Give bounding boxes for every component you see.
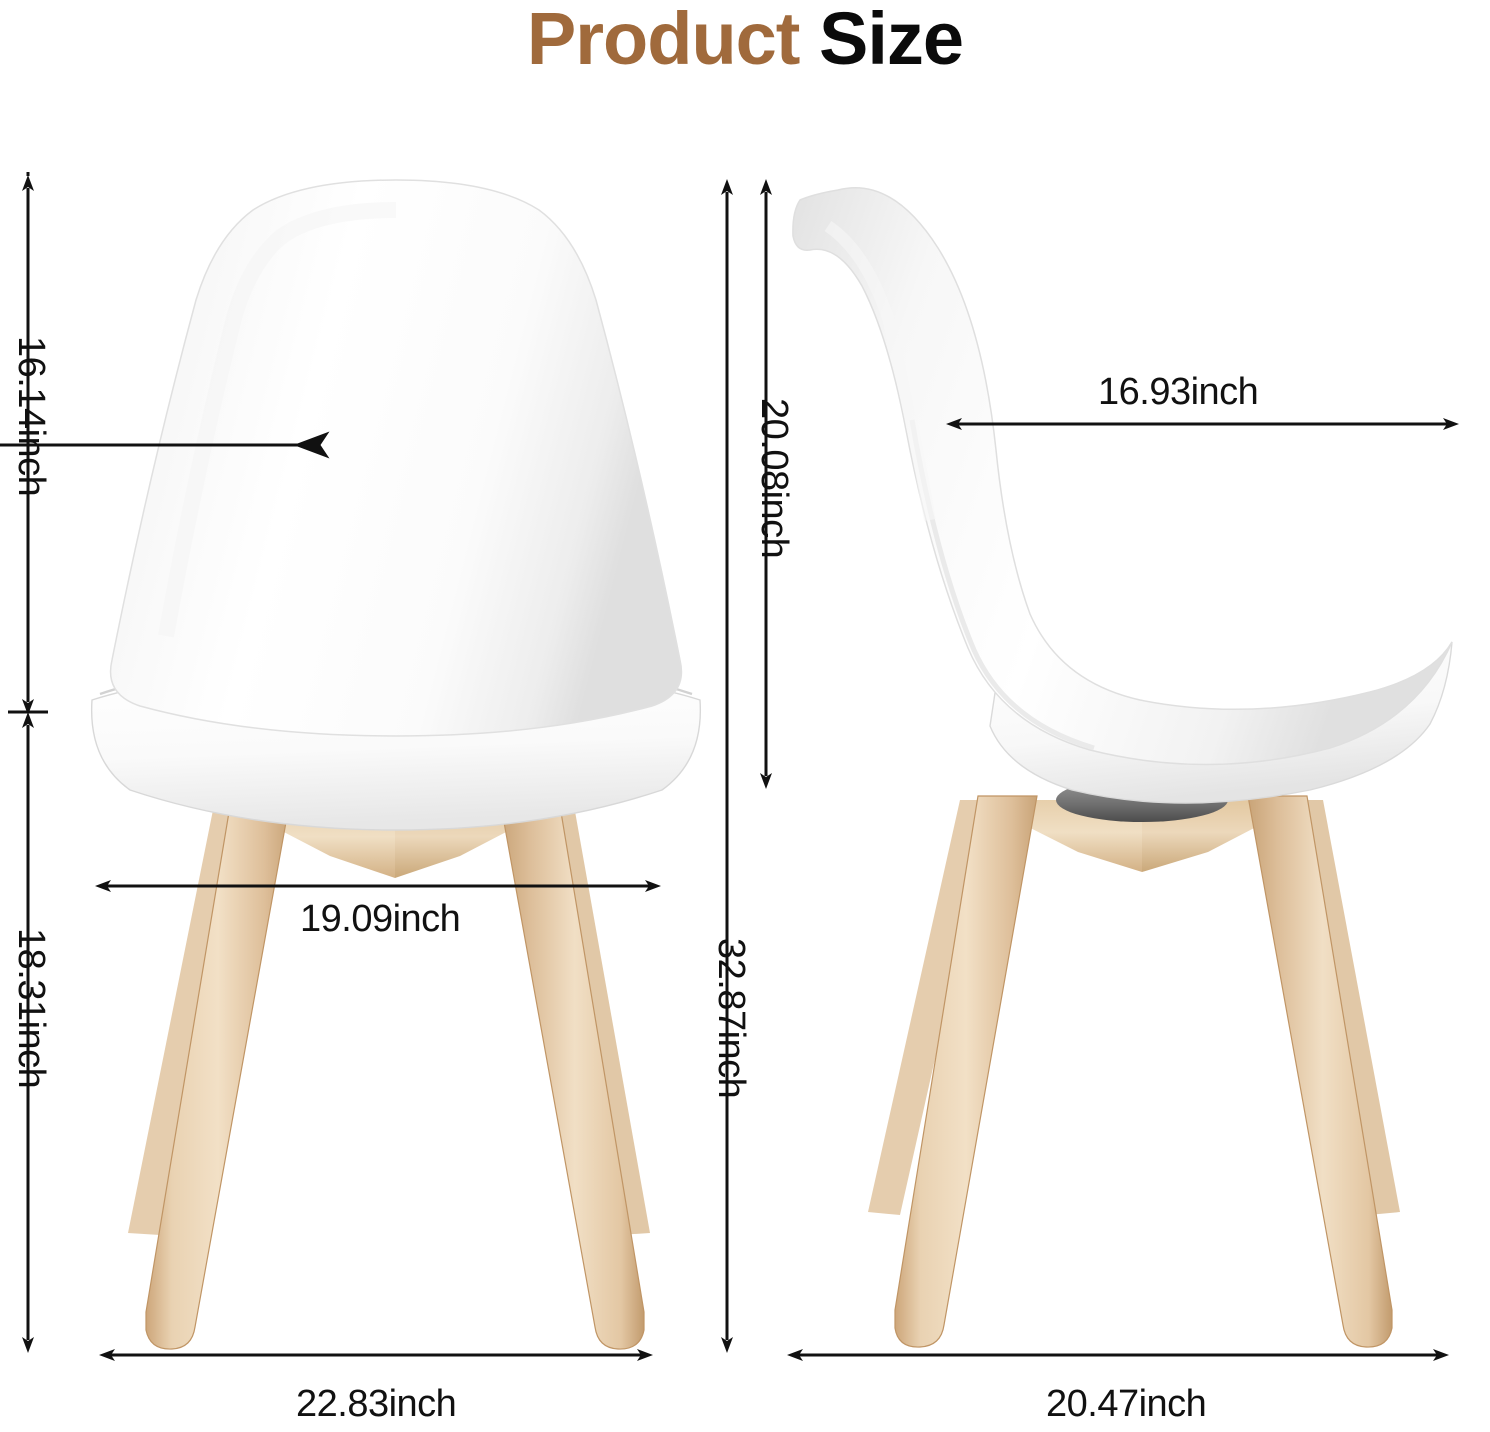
label-backrest-height: 16.14inch xyxy=(9,336,52,496)
chair-illustrations xyxy=(0,0,1490,1432)
label-overall-width: 22.83inch xyxy=(296,1383,456,1426)
chair-side-view xyxy=(793,188,1452,1347)
label-overall-depth: 20.47inch xyxy=(1046,1383,1206,1426)
label-seat-height: 18.31inch xyxy=(9,928,52,1088)
side-view-backrest-shell xyxy=(793,188,1452,765)
label-seat-depth: 16.93inch xyxy=(1098,371,1258,414)
label-overall-height: 32.87inch xyxy=(709,938,752,1098)
chair-front-view xyxy=(92,180,701,1349)
product-size-infographic: Product Size xyxy=(0,0,1490,1432)
front-view-leg-front-right xyxy=(500,800,644,1349)
label-seat-width: 19.09inch xyxy=(300,898,460,941)
label-backrest-height-side: 20.08inch xyxy=(752,398,795,558)
